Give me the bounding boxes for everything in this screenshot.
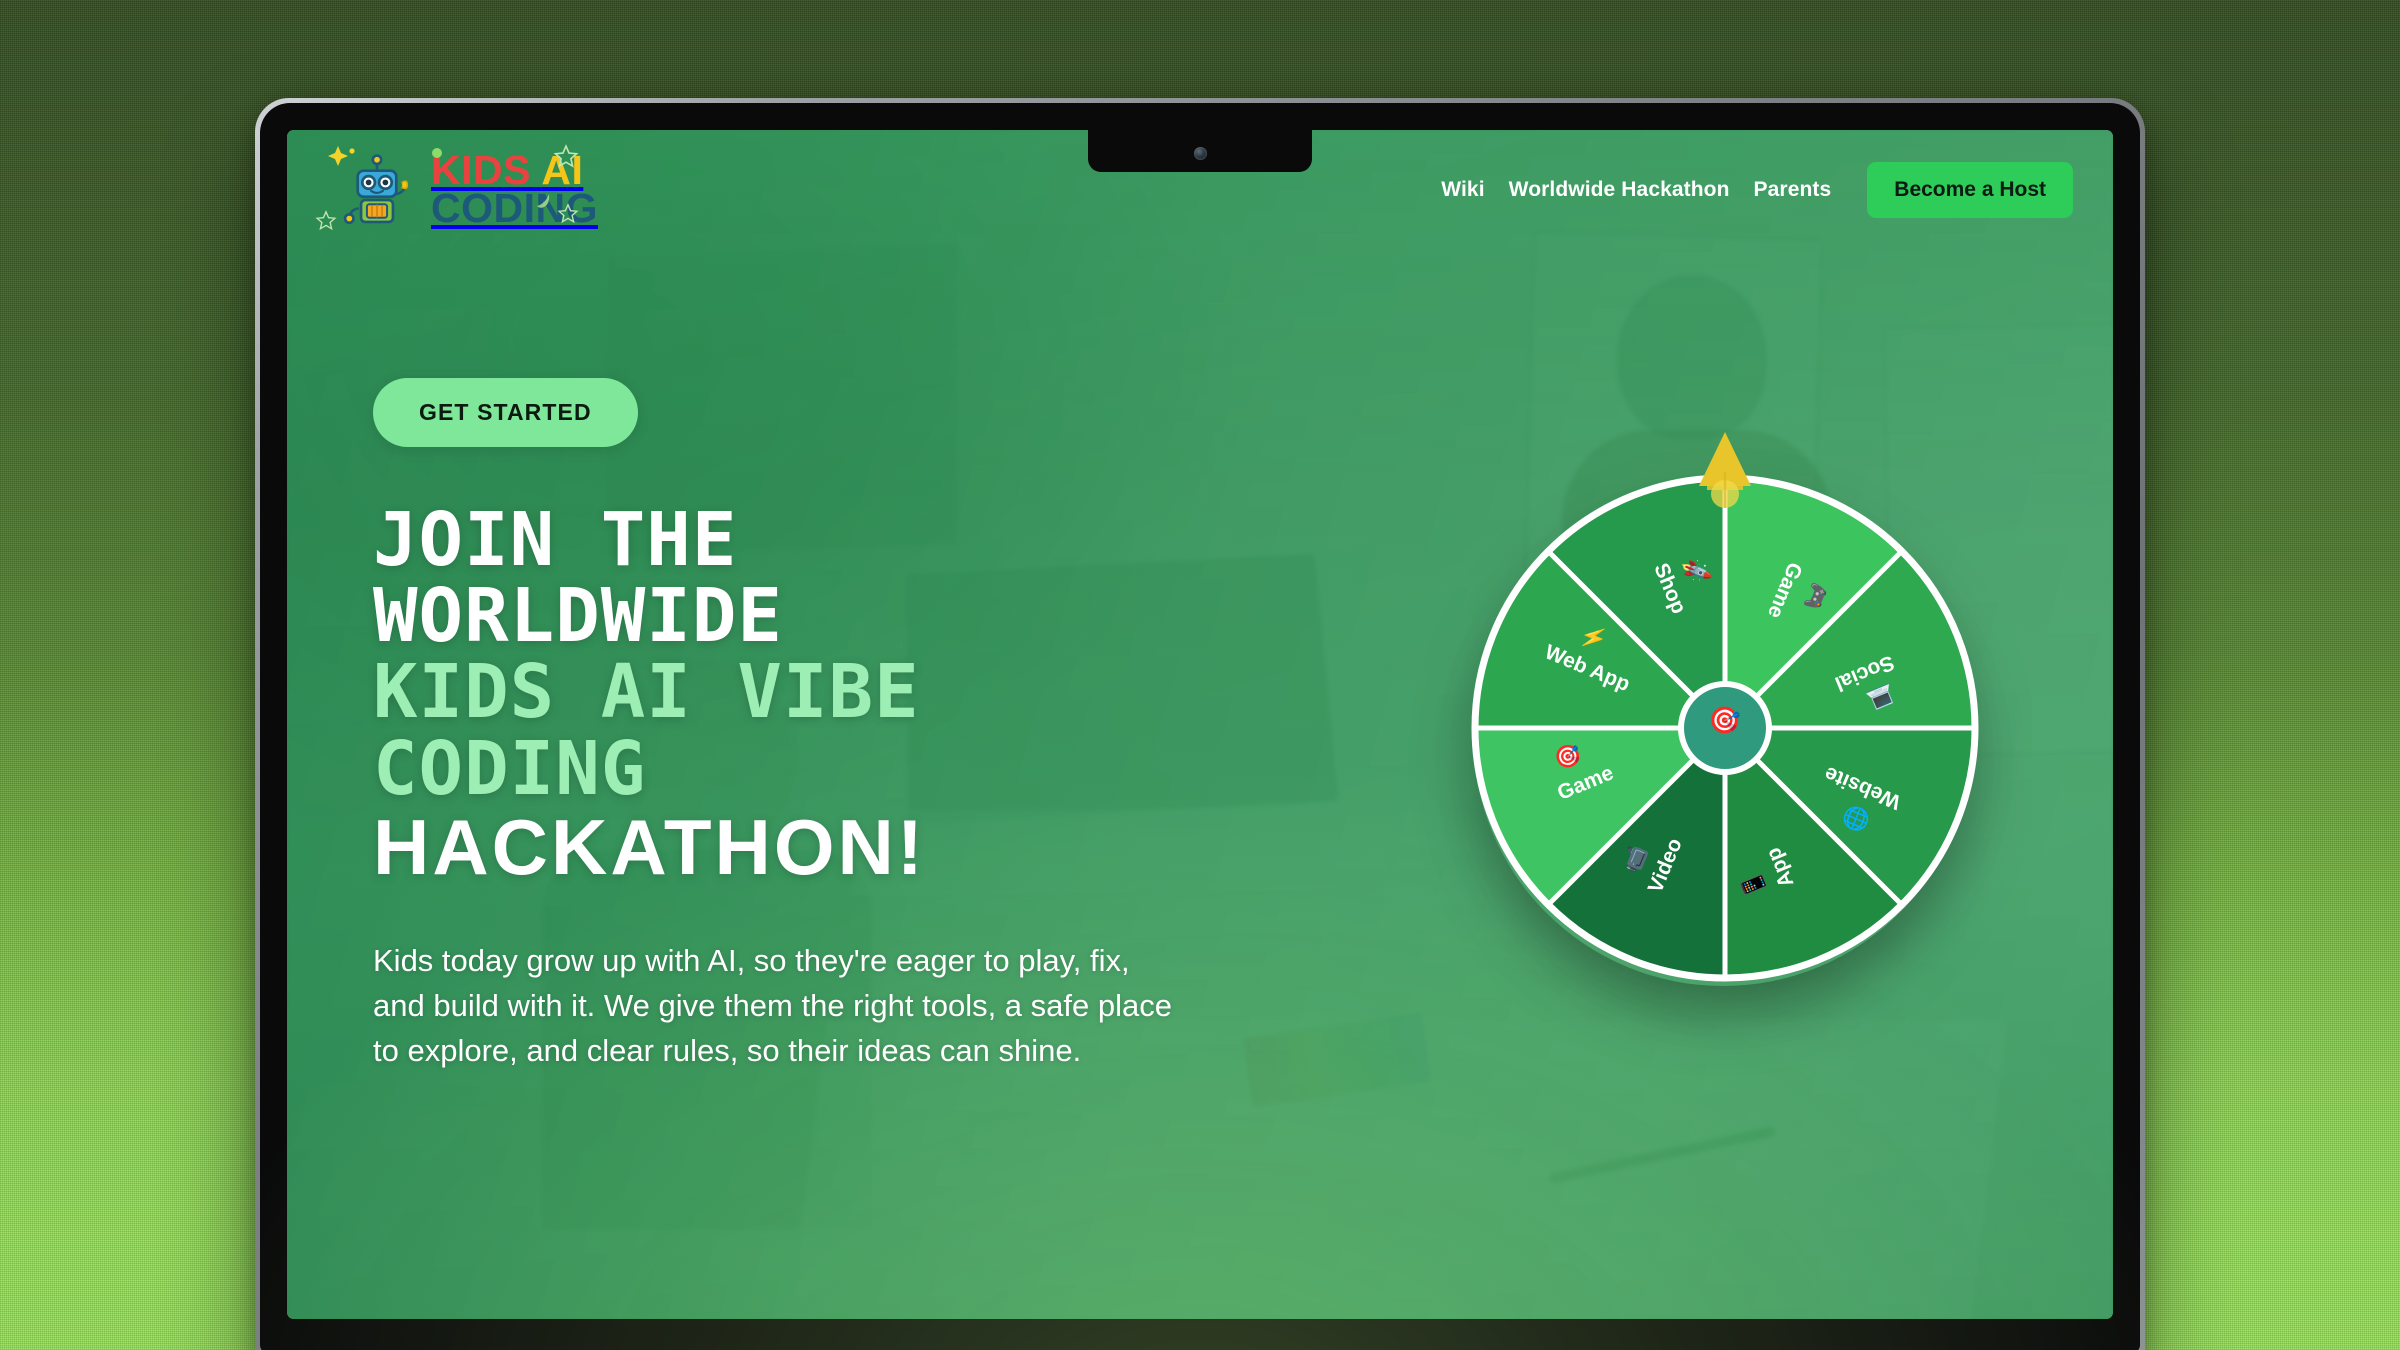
- wheel-graphic[interactable]: Game🎮Social💻Website🌐App📱Video📹Game🎯Web A…: [1465, 468, 1985, 988]
- hero-headline: JOIN THE WORLDWIDE KIDS AI VIBE CODING H…: [373, 502, 1357, 887]
- become-a-host-button[interactable]: Become a Host: [1867, 162, 2073, 218]
- nav-link-worldwide-hackathon[interactable]: Worldwide Hackathon: [1509, 178, 1730, 202]
- hero-section: KIDS AI CODING: [287, 130, 2113, 1319]
- laptop-outer-shell: KIDS AI CODING: [255, 98, 2145, 1350]
- headline-line-3: KIDS AI VIBE: [373, 654, 1357, 730]
- nav-link-wiki[interactable]: Wiki: [1441, 178, 1484, 202]
- headline-line-5: HACKATHON!: [373, 807, 1357, 887]
- nav-link-parents[interactable]: Parents: [1754, 178, 1832, 202]
- headline-line-1: JOIN THE: [373, 502, 1357, 578]
- spin-wheel[interactable]: Game🎮Social💻Website🌐App📱Video📹Game🎯Web A…: [1465, 428, 1985, 988]
- headline-line-2: WORLDWIDE: [373, 578, 1357, 654]
- laptop-screen: KIDS AI CODING: [287, 130, 2113, 1319]
- get-started-button[interactable]: GET STARTED: [373, 378, 638, 447]
- brand-logo[interactable]: KIDS AI CODING: [335, 148, 598, 232]
- laptop-notch: [1088, 130, 1312, 172]
- hero-paragraph: Kids today grow up with AI, so they're e…: [373, 939, 1173, 1074]
- star-outline-icon: [315, 210, 337, 237]
- brand-coding-text: CODING: [431, 185, 598, 231]
- hero-copy-column: GET STARTED JOIN THE WORLDWIDE KIDS AI V…: [287, 130, 1357, 1074]
- brand-wordmark: KIDS AI CODING: [431, 152, 598, 227]
- page-background: KIDS AI CODING: [0, 0, 2400, 1350]
- laptop-bezel: KIDS AI CODING: [260, 103, 2140, 1350]
- webcam-icon: [1194, 147, 1207, 160]
- wheel-hub-emoji: 🎯: [1709, 705, 1741, 735]
- main-navigation: Wiki Worldwide Hackathon Parents Become …: [1441, 162, 2073, 218]
- wheel-pointer-icon: [1693, 428, 1757, 514]
- robot-mascot-icon: [335, 148, 419, 232]
- headline-line-4: CODING: [373, 731, 1357, 807]
- laptop-mockup: KIDS AI CODING: [255, 98, 2145, 1350]
